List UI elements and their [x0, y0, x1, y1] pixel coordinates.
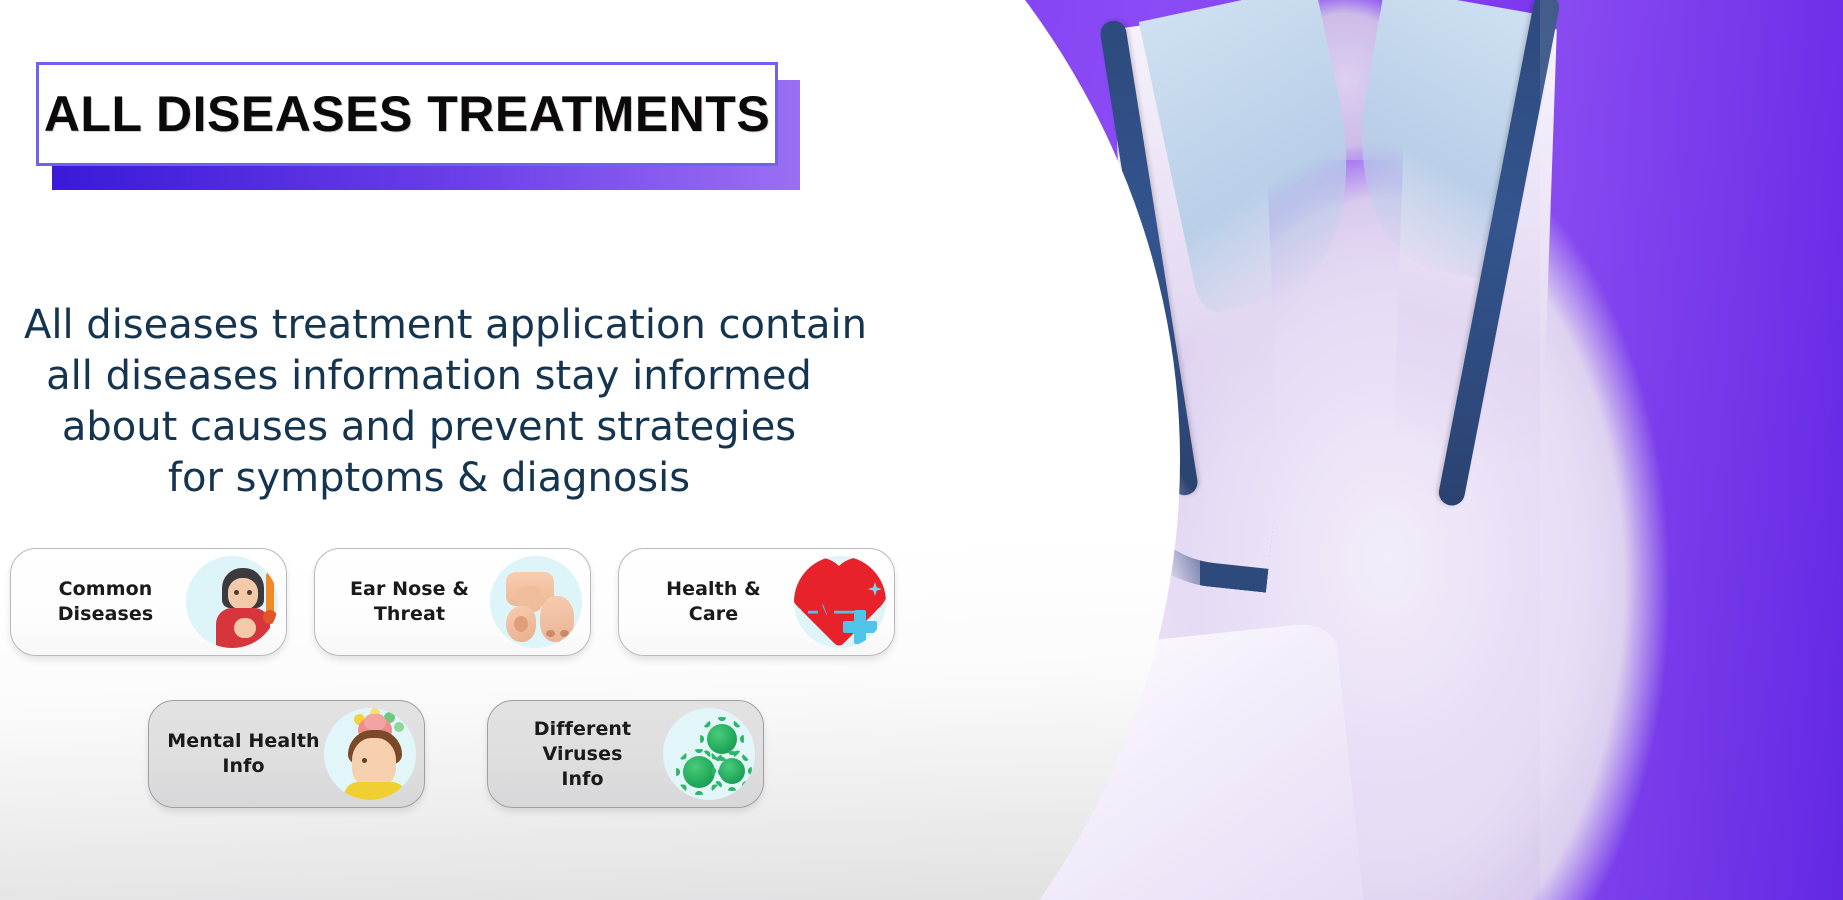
title-banner: ALL DISEASES TREATMENTS	[36, 62, 778, 166]
card-label-line-1: Ear Nose &	[350, 578, 469, 600]
card-health-care[interactable]: Health & Care	[618, 548, 895, 656]
card-label-line-1: Health &	[666, 578, 761, 600]
brain-highlight	[364, 714, 386, 730]
description-line-4: for symptoms & diagnosis	[24, 453, 834, 504]
description-line-2: all diseases information stay informed	[24, 351, 834, 402]
ear-canal	[514, 616, 528, 632]
card-label-mental-health-info: Mental Health Info	[149, 729, 324, 779]
card-label-line-1: Common Diseases	[58, 578, 154, 625]
yellow-shirt	[344, 782, 406, 800]
card-label-line-2: Info	[561, 768, 603, 790]
mental-health-head-icon	[324, 708, 416, 800]
heart-care-icon	[794, 556, 886, 648]
nose-icon	[540, 596, 574, 642]
feature-cards-row-1: Common Diseases Ear Nose & Threat	[10, 548, 895, 656]
card-label-line-2: Threat	[374, 603, 445, 625]
feature-cards-row-2: Mental Health Info Different Viruses Inf…	[148, 700, 764, 808]
card-label-line-1: Mental Health	[167, 730, 319, 752]
thermometer-bulb-icon	[263, 610, 277, 624]
eye	[247, 590, 252, 595]
nostril	[560, 630, 569, 637]
card-different-viruses-info[interactable]: Different Viruses Info	[487, 700, 764, 808]
medical-cross-icon	[843, 621, 877, 633]
app-promo-banner: ALL DISEASES TREATMENTS All diseases tre…	[0, 0, 1843, 900]
face	[352, 738, 396, 788]
card-common-diseases[interactable]: Common Diseases	[10, 548, 287, 656]
description-line-1: All diseases treatment application conta…	[24, 300, 834, 351]
card-label-line-2: Care	[689, 603, 738, 625]
eye	[362, 758, 367, 763]
virus-icon	[663, 708, 755, 800]
eye	[234, 590, 239, 595]
virus-particle-icon	[719, 758, 745, 784]
card-mental-health-info[interactable]: Mental Health Info	[148, 700, 425, 808]
card-label-common-diseases: Common Diseases	[11, 577, 186, 627]
card-ear-nose-threat[interactable]: Ear Nose & Threat	[314, 548, 591, 656]
hands	[234, 618, 256, 638]
card-label-different-viruses-info: Different Viruses Info	[488, 717, 663, 792]
card-label-ear-nose-threat: Ear Nose & Threat	[315, 577, 490, 627]
card-label-line-2: Info	[222, 755, 264, 777]
nostril	[546, 630, 555, 637]
heart-icon	[798, 566, 880, 648]
virus-particle-icon	[707, 724, 737, 754]
description-paragraph: All diseases treatment application conta…	[24, 300, 834, 504]
card-label-line-1: Different Viruses	[534, 718, 631, 765]
ear-nose-throat-icon	[490, 556, 582, 648]
sick-person-thermometer-icon	[186, 556, 278, 648]
virus-particle-icon	[683, 756, 715, 788]
flower-icon	[394, 722, 404, 732]
card-label-health-care: Health & Care	[619, 577, 794, 627]
face	[228, 578, 258, 610]
description-line-3: about causes and prevent strategies	[24, 402, 834, 453]
page-title: ALL DISEASES TREATMENTS	[44, 85, 770, 143]
